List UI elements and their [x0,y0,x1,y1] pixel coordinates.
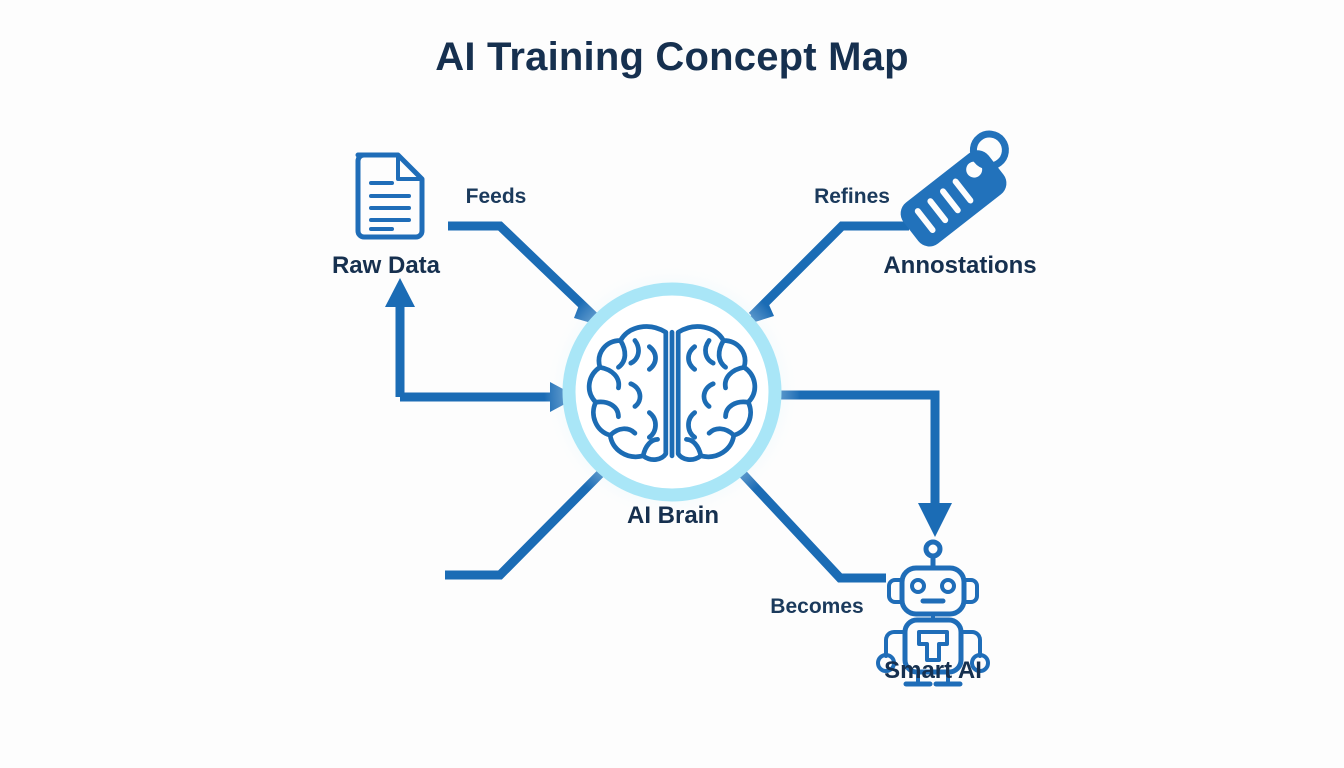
document-icon [358,155,422,237]
node-label-annostations: Annostations [883,252,1036,279]
tag-icon [891,128,1028,253]
node-label-smart-ai: Smart AI [884,657,982,684]
edge-output-to-robot [775,395,952,537]
edge-label-feeds: Feeds [466,185,527,208]
node-label-ai-brain: AI Brain [627,502,719,529]
edge-lower-left [445,473,601,575]
edge-label-refines: Refines [814,185,890,208]
edge-becomes [741,472,886,578]
concept-map-canvas: AI Training Concept Map [0,0,1344,768]
page-title: AI Training Concept Map [435,35,909,79]
edge-label-becomes: Becomes [770,595,863,618]
node-label-raw-data: Raw Data [332,252,441,279]
concept-map-diagram: AI Training Concept Map [0,0,1344,768]
